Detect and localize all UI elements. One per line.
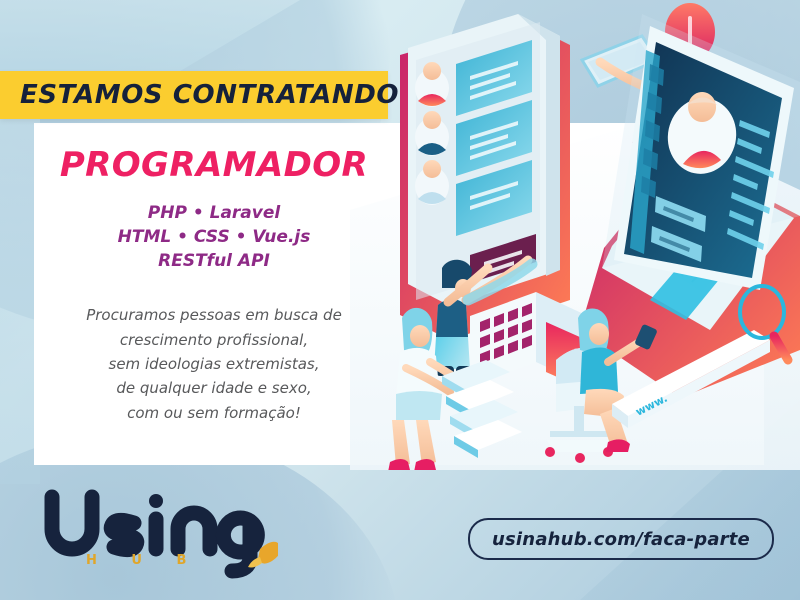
logo-i-dot xyxy=(149,494,163,508)
page-title: PROGRAMADOR xyxy=(60,145,368,185)
usina-hub-logo: H U B xyxy=(38,487,278,582)
pitch-line: com ou sem formação! xyxy=(86,401,342,425)
pitch-line: crescimento profissional, xyxy=(86,328,342,352)
pitch-line: de qualquer idade e sexo, xyxy=(86,376,342,400)
banner-headline: ESTAMOS CONTRATANDO xyxy=(0,80,399,110)
pitch-line: Procuramos pessoas em busca de xyxy=(86,303,342,327)
pitch-paragraph: Procuramos pessoas em busca de crescimen… xyxy=(86,303,342,424)
cta-url-text: usinahub.com/faca-parte xyxy=(492,529,750,550)
tech-stack-line: PHP • Laravel xyxy=(118,201,311,225)
tech-stack-line: HTML • CSS • Vue.js xyxy=(118,225,311,249)
content-card-text-column: PROGRAMADOR PHP • Laravel HTML • CSS • V… xyxy=(34,123,394,465)
tech-stack-line: RESTful API xyxy=(118,249,311,273)
logo-subtitle: H U B xyxy=(86,553,201,568)
hiring-banner: ESTAMOS CONTRATANDO xyxy=(0,71,388,119)
pitch-line: sem ideologias extremistas, xyxy=(86,352,342,376)
isometric-illustration: www. xyxy=(350,0,800,470)
tech-stack-list: PHP • Laravel HTML • CSS • Vue.js RESTfu… xyxy=(118,201,311,273)
poster-canvas: www. ESTAMOS CONTRATANDO PROGRAMADOR PHP… xyxy=(0,0,800,600)
cta-url-button[interactable]: usinahub.com/faca-parte xyxy=(468,518,774,560)
